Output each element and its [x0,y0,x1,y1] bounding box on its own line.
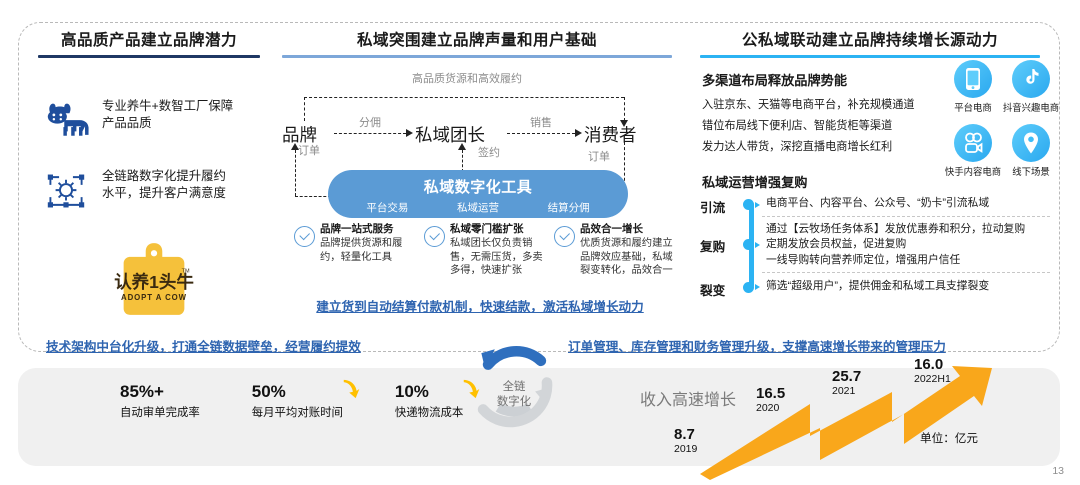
timeline-text-fission: 筛选“超级用户”，提供佣金和私域工具支撑裂变 [762,279,989,294]
revenue-growth-chart: 8.7 2019 16.5 2020 25.7 2021 16.0 2022H1 [660,362,1020,480]
timeline-step-fission: 裂变 筛选“超级用户”，提供佣金和私域工具支撑裂变 [700,279,1050,299]
private-domain-timeline: 引流 电商平台、内容平台、公众号、“奶卡”引流私域 复购 通过【云牧场任务体系】… [700,196,1050,299]
channel-label-platform: 平台电商 [944,100,1002,114]
middle-feature-3: 品效合一增长 优质货源和履约建立品牌效应基础，私域裂变转化，品效合一 [554,222,678,278]
timeline-text-drainage: 电商平台、内容平台、公众号、“奶卡”引流私域 [762,196,989,211]
tiktok-note-icon [1012,60,1050,98]
flow-arrow-commission [406,129,413,137]
column-left-title: 高品质产品建立品牌潜力 [38,28,260,50]
brand-name-en: ADOPT A COW [121,293,187,302]
brand-tm: TM [182,269,190,275]
right-section1-line-1: 入驻京东、天猫等电商平台，补充规模通道 [702,96,915,112]
digital-gear-network-icon [40,168,92,214]
kpi-stats: 85%+ 自动审单完成率 50% 每月平均对账时间 10% 快递物流成本 [120,382,463,420]
timeline-dot-icon [740,236,762,256]
chart-value-2020: 16.5 [756,385,785,402]
timeline-text-repurchase: 通过【云牧场任务体系】发放优惠券和积分，拉动复购 定期发放会员权益，促进复购 一… [762,222,1025,268]
column-heading-middle: 私域突围建立品牌声量和用户基础 [282,28,672,58]
middle-feature-2-title: 私域零门槛扩张 [450,222,548,236]
right-section1-line-2: 错位布局线下便利店、智能货柜等渠道 [702,117,892,133]
column-left-rule [38,55,260,58]
flow-label-commission: 分佣 [359,114,381,130]
channel-cell-offline[interactable]: 线下场景 [1002,124,1060,178]
timeline-label-drainage: 引流 [700,196,740,216]
flow-edge-commission [334,133,406,134]
flow-label-order-right: 订单 [588,148,610,164]
column-right-rule [700,55,1040,58]
private-domain-flow-diagram: 高品质货源和高效履约 品牌 私域团长 消费者 分佣 销售 订单 订单 签约 [282,70,674,220]
flow-top-caption: 高品质货源和高效履约 [412,70,522,86]
flow-node-consumer: 消费者 [584,122,637,147]
cycle-label-line-2: 数字化 [478,395,550,410]
channel-label-douyin: 抖音兴趣电商 [1002,100,1060,114]
channel-label-offline: 线下场景 [1002,164,1060,178]
flow-edge-top-right-leg [624,97,625,121]
chart-point-2020: 16.5 2020 [756,385,785,414]
chart-year-2022h1: 2022H1 [914,373,951,385]
column-middle-title: 私域突围建立品牌声量和用户基础 [282,28,672,50]
flow-arrow-sign [458,143,466,150]
video-camera-icon [954,124,992,162]
left-feature-row-2: 全链路数字化提升履约水平，提升客户满意度 [40,168,237,214]
brand-logo: 认养1头牛 ADOPT A COW TM [108,243,200,315]
flow-edge-top [304,97,624,98]
timeline-label-fission: 裂变 [700,279,740,299]
chart-value-2021: 25.7 [832,368,861,385]
middle-feature-1: 品牌一站式服务 品牌提供货源和履约，轻量化工具 [294,222,418,278]
channel-cell-douyin[interactable]: 抖音兴趣电商 [1002,60,1060,114]
brand-name-cn: 认养1头牛 [114,272,194,292]
digital-tool-sub-3: 结算分佣 [548,200,590,215]
digital-tool-sub-1: 平台交易 [366,200,408,215]
timeline-text-repurchase-2: 定期发放会员权益，促进复购 [766,237,1025,252]
middle-feature-3-title: 品效合一增长 [580,222,678,236]
chart-year-2019: 2019 [674,443,697,455]
flow-label-order-left: 订单 [298,142,320,158]
kpi-stat-3: 10% 快递物流成本 [395,382,463,420]
kpi-stat-1: 85%+ 自动审单完成率 [120,382,200,420]
right-section2-heading: 私域运营增强复购 [702,172,808,191]
timeline-divider [762,272,1050,273]
kpi-value-2: 50% [252,382,343,402]
digital-tool-title: 私域数字化工具 [328,170,628,197]
flow-label-sales: 销售 [530,114,552,130]
middle-feature-1-body: 品牌提供货源和履约，轻量化工具 [320,237,418,264]
flow-label-sign: 签约 [478,144,500,160]
right-column-link[interactable]: 订单管理、库存管理和财务管理升级，支撑高速增长带来的管理压力 [568,336,946,355]
middle-feature-list: 品牌一站式服务 品牌提供货源和履约，轻量化工具 私域零门槛扩张 私域团长仅负责销… [294,222,682,278]
slide-root: 高品质产品建立品牌潜力 私域突围建立品牌声量和用户基础 公私域联动建立品牌持续增… [0,0,1080,483]
timeline-dot-icon [740,279,762,299]
flow-node-leader: 私域团长 [415,122,485,147]
left-feature-row-1: 专业养牛+数智工厂保障产品品质 [40,98,237,144]
chart-value-2022h1: 16.0 [914,356,951,373]
kpi-label-1: 自动审单完成率 [120,404,200,420]
timeline-label-repurchase: 复购 [700,222,740,255]
channel-label-kuaishou: 快手内容电商 [944,164,1002,178]
timeline-dot-icon [740,196,762,216]
timeline-step-repurchase: 复购 通过【云牧场任务体系】发放优惠券和积分，拉动复购 定期发放会员权益，促进复… [700,222,1050,268]
check-circle-icon [294,226,315,247]
cycle-label-line-1: 全链 [478,380,550,395]
smartphone-icon [954,60,992,98]
channel-cell-platform[interactable]: 平台电商 [944,60,1002,114]
flow-arrow-order-left [291,143,299,150]
kpi-value-3: 10% [395,382,463,402]
column-middle-rule [282,55,672,58]
full-chain-cycle-label: 全链 数字化 [478,380,550,410]
location-pin-icon [1012,124,1050,162]
kpi-label-3: 快递物流成本 [395,404,463,420]
right-section1-heading: 多渠道布局释放品牌势能 [702,70,847,89]
flow-edge-order-left-horz [295,196,331,197]
kpi-stat-2: 50% 每月平均对账时间 [252,382,343,420]
kpi-value-1: 85%+ [120,382,200,402]
middle-feature-3-body: 优质货源和履约建立品牌效应基础，私域裂变转化，品效合一 [580,237,678,278]
chart-unit-label: 单位：亿元 [920,430,978,446]
chart-point-2022h1: 16.0 2022H1 [914,356,951,385]
timeline-step-drainage: 引流 电商平台、内容平台、公众号、“奶卡”引流私域 [700,196,1050,216]
flow-edge-sign [462,150,463,172]
digital-tool-sub-2: 私域运营 [457,200,499,215]
cow-icon [40,98,92,144]
chart-point-2019: 8.7 2019 [674,426,697,455]
middle-feature-2: 私域零门槛扩张 私域团长仅负责销售，无需压货，多卖多得，快速扩张 [424,222,548,278]
flow-edge-sales [507,133,575,134]
column-heading-left: 高品质产品建立品牌潜力 [38,28,260,58]
flow-edge-order-left-vert [295,150,296,196]
timeline-divider [762,216,1050,217]
chart-year-2020: 2020 [756,402,785,414]
chart-point-2021: 25.7 2021 [832,368,861,397]
right-section1-line-3: 发力达人带货，深挖直播电商增长红利 [702,138,892,154]
left-column-link[interactable]: 技术架构中台化升级，打通全链数据壁垒，经营履约提效 [46,336,361,355]
column-heading-right: 公私域联动建立品牌持续增长源动力 [700,28,1040,58]
kpi-label-2: 每月平均对账时间 [252,404,343,420]
digital-tool-pill: 私域数字化工具 平台交易 私域运营 结算分佣 [328,170,628,218]
column-right-title: 公私域联动建立品牌持续增长源动力 [700,28,1040,50]
check-circle-icon [554,226,575,247]
flow-edge-top-left-leg [304,97,305,121]
down-arrow-icon [341,378,363,400]
middle-feature-2-body: 私域团长仅负责销售，无需压货，多卖多得，快速扩张 [450,237,548,278]
timeline-text-repurchase-1: 通过【云牧场任务体系】发放优惠券和积分，拉动复购 [766,222,1025,237]
check-circle-icon [424,226,445,247]
chart-value-2019: 8.7 [674,426,697,443]
page-number: 13 [1052,465,1064,477]
channel-cell-kuaishou[interactable]: 快手内容电商 [944,124,1002,178]
timeline-text-repurchase-3: 一线导购转向营养师定位，增强用户信任 [766,253,1025,268]
left-feature-text-1: 专业养牛+数智工厂保障产品品质 [102,98,237,132]
chart-year-2021: 2021 [832,385,861,397]
flow-arrow-sales [575,129,582,137]
middle-column-link[interactable]: 建立货到自动结算付款机制，快速结款，激活私域增长动力 [285,296,675,315]
left-feature-text-2: 全链路数字化提升履约水平，提升客户满意度 [102,168,237,202]
channel-icon-grid: 平台电商 抖音兴趣电商 快手内容电商 线下场景 [944,60,1064,180]
middle-feature-1-title: 品牌一站式服务 [320,222,418,236]
